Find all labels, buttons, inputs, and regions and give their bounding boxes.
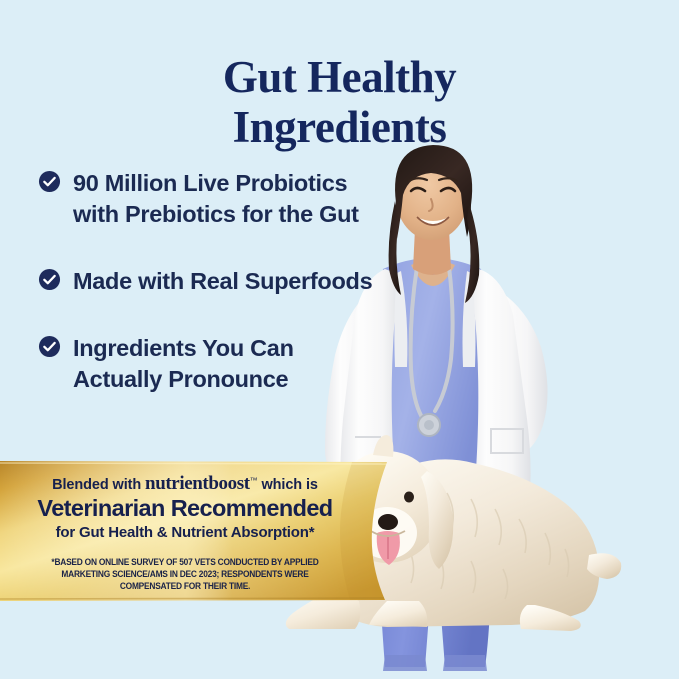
banner-footnote: *BASED ON ONLINE SURVEY OF 507 VETS COND…: [36, 556, 334, 592]
title-line-1: Gut Healthy: [0, 52, 679, 102]
page-title: Gut Healthy Ingredients: [0, 52, 679, 152]
banner-line1-suffix: which is: [258, 477, 318, 493]
check-circle-icon: [38, 268, 61, 291]
veterinarian-recommended-banner: Blended with nutrientboost™ which is Vet…: [0, 460, 400, 602]
list-item: Made with Real Superfoods: [38, 266, 458, 297]
banner-headline: Veterinarian Recommended: [0, 495, 370, 522]
brand-name: nutrientboost: [145, 473, 250, 494]
banner-text-block: Blended with nutrientboost™ which is Vet…: [0, 460, 370, 602]
banner-line-1: Blended with nutrientboost™ which is: [0, 472, 370, 494]
benefits-list: 90 Million Live Probiotics with Prebioti…: [38, 168, 458, 395]
check-circle-icon: [38, 170, 61, 193]
list-item: Ingredients You Can Actually Pronounce: [38, 333, 458, 395]
banner-subline: for Gut Health & Nutrient Absorption*: [0, 523, 370, 542]
banner-line1-prefix: Blended with: [52, 477, 145, 493]
benefit-text: 90 Million Live Probiotics with Prebioti…: [73, 168, 458, 230]
promo-banner-image: Gut Healthy Ingredients 90 Million Live …: [0, 0, 679, 679]
title-line-2: Ingredients: [0, 102, 679, 152]
trademark-icon: ™: [250, 476, 258, 485]
check-circle-icon: [38, 335, 61, 358]
benefit-text: Made with Real Superfoods: [73, 266, 458, 297]
benefit-text: Ingredients You Can Actually Pronounce: [73, 333, 458, 395]
list-item: 90 Million Live Probiotics with Prebioti…: [38, 168, 458, 230]
